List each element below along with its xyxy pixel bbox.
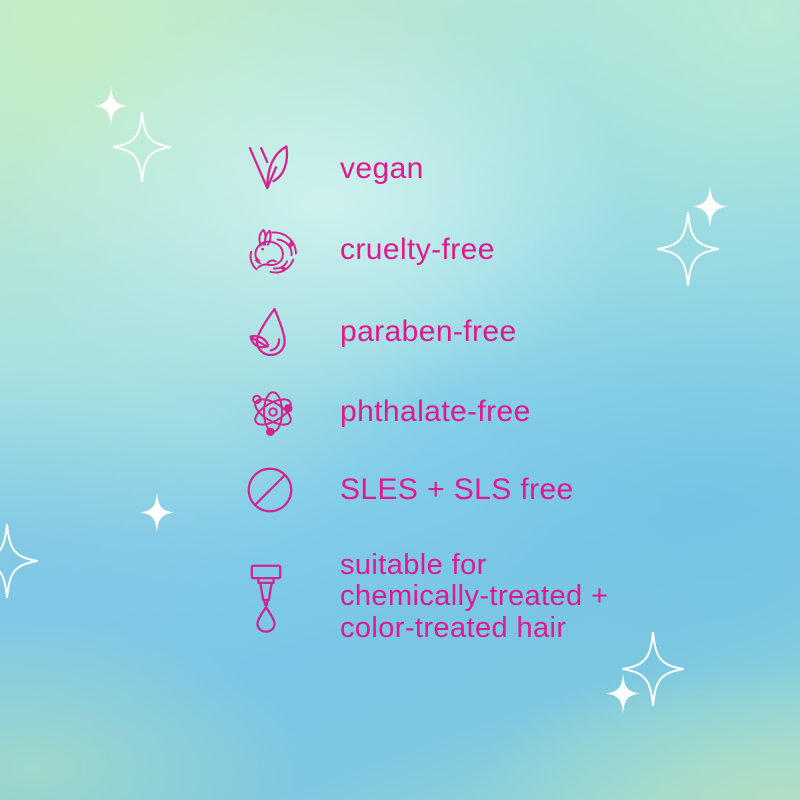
claim-label-sles-sls-free: SLES + SLS free [340, 475, 574, 505]
product-claims-poster: vegan [0, 0, 800, 800]
claim-item-sles-sls-free: SLES + SLS free [246, 466, 574, 514]
claim-label-cruelty-free: cruelty-free [340, 235, 495, 265]
claim-item-paraben-free: paraben-free [246, 304, 517, 360]
claims-list: vegan [0, 0, 800, 800]
no-sulfates-prohibition-icon [246, 466, 312, 514]
paraben-free-droplet-leaf-icon [246, 304, 312, 360]
claim-item-vegan: vegan [246, 143, 424, 195]
cruelty-free-leaping-bunny-icon [246, 224, 312, 276]
dropper-pipette-icon [246, 562, 312, 634]
claim-label-vegan: vegan [340, 154, 424, 184]
claim-label-paraben-free: paraben-free [340, 317, 517, 347]
phthalate-free-atom-icon [246, 385, 312, 439]
claim-item-phthalate-free: phthalate-free [246, 385, 531, 439]
claim-item-treated-hair: suitable for chemically-treated + color-… [246, 552, 608, 644]
claim-label-treated-hair: suitable for chemically-treated + color-… [340, 550, 608, 644]
vegan-leaf-v-icon [246, 143, 312, 195]
claim-label-sles-sls-free-atom: phthalate-free [340, 397, 531, 427]
claim-item-cruelty-free: cruelty-free [246, 224, 495, 276]
